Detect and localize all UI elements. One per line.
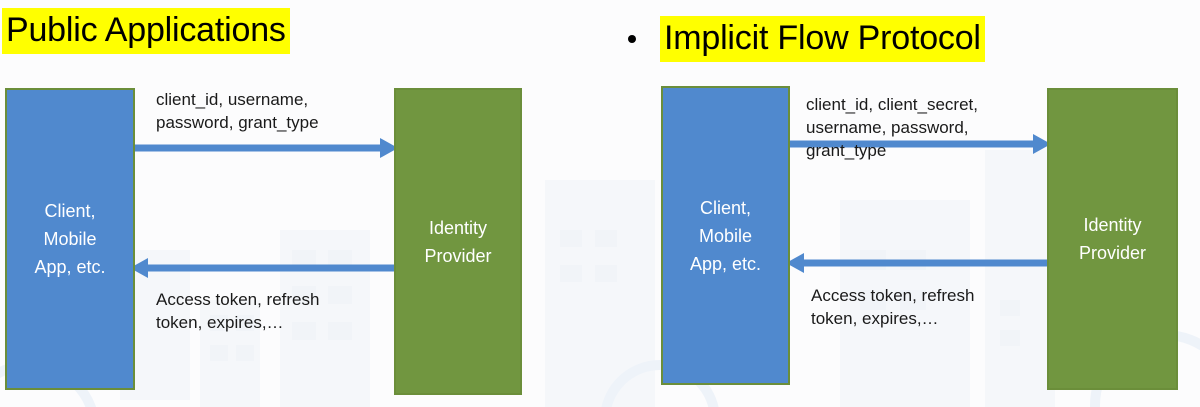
flow-label-response-implicit-flow-protocol: Access token, refresh token, expires,… (811, 284, 1026, 330)
panel-title-text: Implicit Flow Protocol (660, 16, 985, 62)
node-client-label: Client, Mobile App, etc. (34, 197, 105, 281)
node-provider-label: Identity Provider (1079, 211, 1146, 267)
node-identity-provider-public-applications[interactable]: Identity Provider (394, 88, 522, 395)
flow-label-response-public-applications: Access token, refresh token, expires,… (156, 288, 371, 334)
flow-label-request-implicit-flow-protocol: client_id, client_secret, username, pass… (806, 93, 1021, 162)
arrow-response-left-implicit-flow-protocol (786, 252, 1051, 274)
slide-content: Public Applications Client, Mobile App, … (0, 0, 1200, 407)
bullet-dot-icon (628, 35, 636, 43)
arrow-response-left-public-applications (130, 257, 398, 279)
panel-title-implicit-flow-protocol: Implicit Flow Protocol (628, 16, 985, 62)
node-client-implicit-flow-protocol[interactable]: Client, Mobile App, etc. (661, 86, 790, 385)
node-client-public-applications[interactable]: Client, Mobile App, etc. (5, 88, 135, 390)
node-identity-provider-implicit-flow-protocol[interactable]: Identity Provider (1047, 88, 1178, 390)
node-provider-label: Identity Provider (424, 214, 491, 270)
flow-label-request-public-applications: client_id, username, password, grant_typ… (156, 88, 371, 134)
node-client-label: Client, Mobile App, etc. (690, 194, 761, 278)
arrow-request-right-public-applications (130, 137, 398, 159)
panel-title-public-applications: Public Applications (2, 8, 290, 54)
panel-title-text: Public Applications (2, 8, 290, 54)
